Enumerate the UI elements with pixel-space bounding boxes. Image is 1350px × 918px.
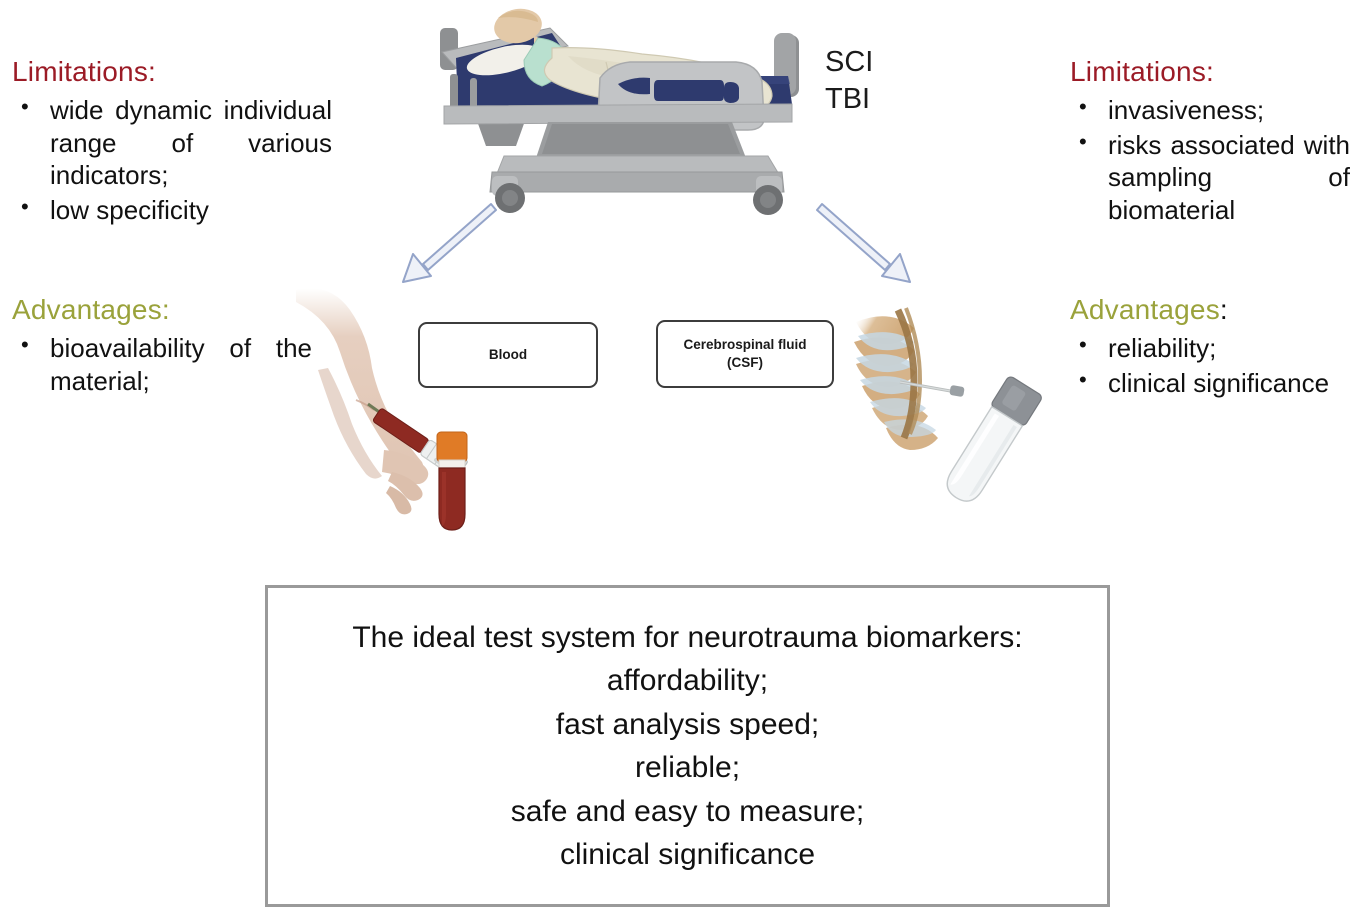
right-limitations-heading: Limitations:: [1070, 57, 1350, 88]
condition-labels: SCI TBI: [825, 44, 873, 118]
ideal-line: clinical significance: [560, 833, 815, 877]
right-advantages-heading-colon: :: [1220, 294, 1228, 325]
ideal-line: The ideal test system for neurotrauma bi…: [352, 616, 1022, 660]
list-item: low specificity: [12, 194, 332, 227]
right-advantages-block: Advantages: reliability; clinical signif…: [1070, 295, 1350, 401]
list-item: clinical significance: [1070, 367, 1350, 400]
left-advantages-block: Advantages: bioavailability of the mater…: [12, 295, 312, 399]
left-limitations-heading: Limitations:: [12, 57, 332, 88]
blood-draw-illustration: [280, 282, 515, 532]
label-sci: SCI: [825, 44, 873, 81]
csf-label-line1: Cerebrospinal fluid: [683, 337, 806, 352]
ideal-line: reliable;: [635, 746, 740, 790]
hospital-bed-illustration: [400, 0, 820, 220]
sample-box-blood[interactable]: Blood: [418, 322, 598, 388]
list-item: reliability;: [1070, 332, 1350, 365]
sample-box-csf-label: Cerebrospinal fluid(CSF): [683, 336, 806, 371]
csf-collection-illustration: [852, 300, 1102, 530]
left-advantages-list: bioavailability of the material;: [12, 332, 312, 398]
right-advantages-list: reliability; clinical significance: [1070, 332, 1350, 400]
list-item: risks associated with sampling of biomat…: [1070, 129, 1350, 227]
left-limitations-block: Limitations: wide dynamic individual ran…: [12, 57, 332, 229]
sample-box-blood-label: Blood: [489, 346, 527, 364]
left-advantages-heading: Advantages:: [12, 295, 312, 326]
arrow-down-right-icon: [808, 196, 918, 288]
right-limitations-block: Limitations: invasiveness; risks associa…: [1070, 57, 1350, 229]
list-item: wide dynamic individual range of various…: [12, 94, 332, 192]
csf-label-line2: (CSF): [727, 355, 763, 370]
ideal-line: affordability;: [607, 659, 768, 703]
blood-tube: [437, 432, 467, 530]
ideal-line: fast analysis speed;: [556, 703, 819, 747]
sample-box-csf[interactable]: Cerebrospinal fluid(CSF): [656, 320, 834, 388]
right-limitations-list: invasiveness; risks associated with samp…: [1070, 94, 1350, 227]
right-advantages-heading: Advantages:: [1070, 295, 1350, 326]
list-item: invasiveness;: [1070, 94, 1350, 127]
ideal-line: safe and easy to measure;: [511, 790, 865, 834]
left-limitations-list: wide dynamic individual range of various…: [12, 94, 332, 227]
diagram-canvas: Limitations: wide dynamic individual ran…: [0, 0, 1350, 918]
label-tbi: TBI: [825, 81, 873, 118]
arrow-down-left-icon: [395, 196, 505, 288]
list-item: bioavailability of the material;: [12, 332, 312, 398]
ideal-test-system-box: The ideal test system for neurotrauma bi…: [265, 585, 1110, 907]
